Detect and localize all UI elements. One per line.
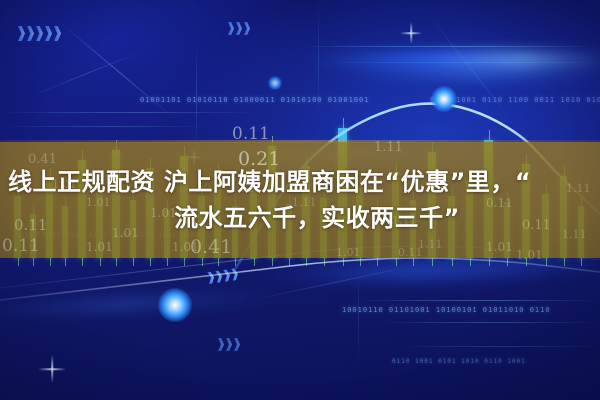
decimal-value: 1.01 xyxy=(516,248,543,262)
glow-node xyxy=(431,86,457,112)
glow-node xyxy=(268,76,282,90)
glow-node xyxy=(158,288,192,322)
headline-line-2: 流水五六千，实收两三千” xyxy=(174,202,460,234)
headline-line-1: 线上正规配资 沪上阿姨加盟商困在“优惠”里，“ xyxy=(8,166,531,198)
secondary-trend-line xyxy=(0,258,600,300)
sparkle-icon xyxy=(400,22,422,44)
decimal-value: 0.11 xyxy=(232,124,270,144)
headline-group: 线上正规配资 沪上阿姨加盟商困在“优惠”里，“ 流水五六千，实收两三千” xyxy=(0,150,600,250)
stock-news-banner: 01001101 01010110 01000011 01010100 0100… xyxy=(0,0,600,400)
sparkle-icon xyxy=(38,355,66,383)
